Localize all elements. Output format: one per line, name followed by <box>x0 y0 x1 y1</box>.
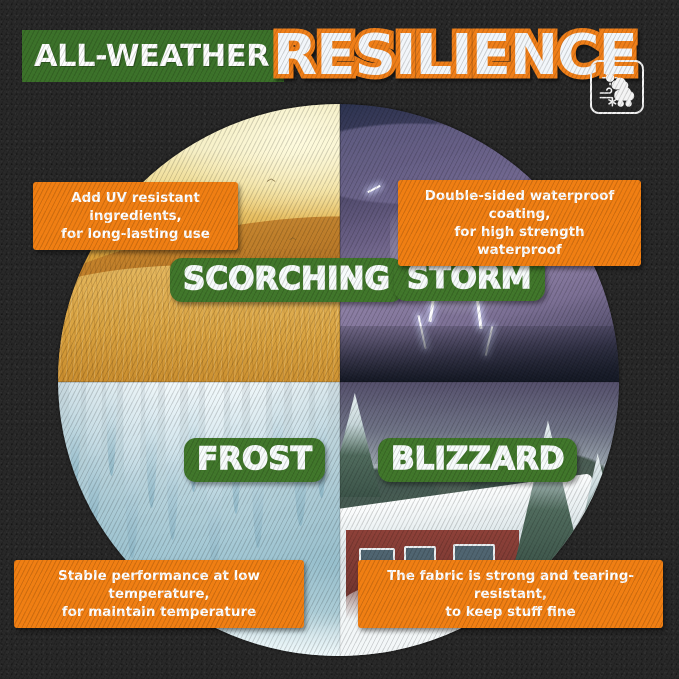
product-feature-poster: ALL-WEATHER RESILIENCE <box>0 0 679 679</box>
header-secondary-title: RESILIENCE <box>273 22 637 90</box>
quadrant-label-frost: FROST <box>184 438 325 482</box>
header-primary-title-band: ALL-WEATHER <box>22 30 284 82</box>
callout-scorching: Add UV resistant ingredients, for long-l… <box>33 182 238 250</box>
callout-storm: Double-sided waterproof coating, for hig… <box>398 180 641 266</box>
callout-frost: Stable performance at low temperature, f… <box>14 560 304 628</box>
quadrant-label-text: SCORCHING <box>183 261 390 297</box>
quadrant-label-blizzard: BLIZZARD <box>378 438 577 482</box>
storm-horizon <box>340 326 619 382</box>
quadrant-label-scorching: SCORCHING <box>170 258 403 302</box>
bird-icon: ︿ <box>267 171 276 184</box>
poster-header: ALL-WEATHER RESILIENCE <box>0 26 679 94</box>
quadrant-label-text: BLIZZARD <box>391 441 564 477</box>
quadrant-label-text: FROST <box>197 441 312 477</box>
quadrant-seam-horizontal <box>58 381 619 383</box>
header-primary-title: ALL-WEATHER <box>20 39 270 74</box>
callout-blizzard: The fabric is strong and tearing-resista… <box>358 560 663 628</box>
quadrant-seam-vertical <box>339 104 341 656</box>
bird-icon: ︿ <box>289 232 296 242</box>
